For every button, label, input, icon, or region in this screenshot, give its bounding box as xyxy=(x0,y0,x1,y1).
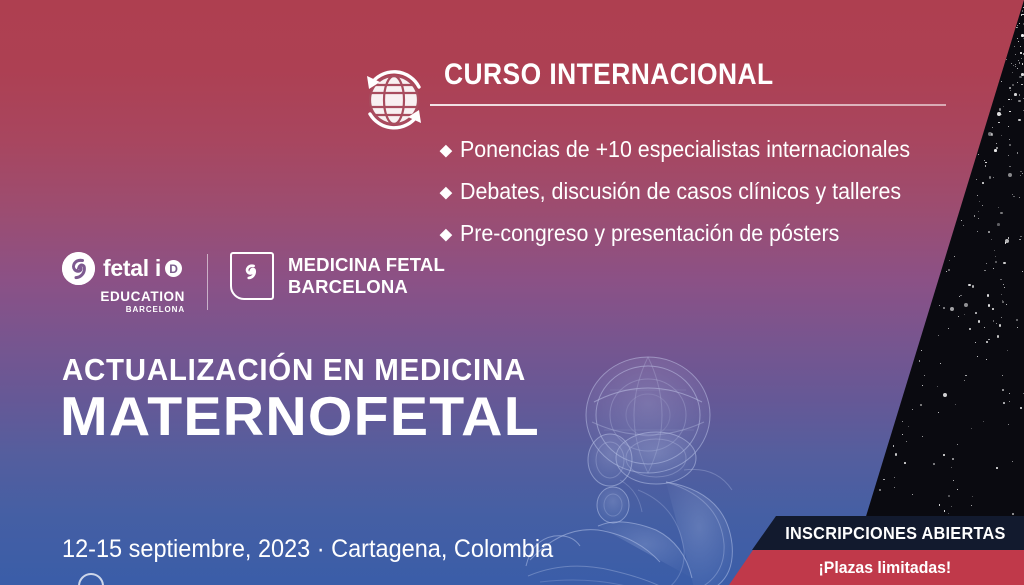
list-item: Ponencias de +10 especialistas internaci… xyxy=(440,128,944,170)
diamond-bullet-icon xyxy=(440,187,453,200)
shield-fetus-icon xyxy=(230,252,274,300)
star-dot xyxy=(1019,76,1022,79)
star-dot xyxy=(979,201,981,203)
star-dot xyxy=(985,162,987,164)
star-dot xyxy=(976,179,977,180)
star-dot xyxy=(993,177,994,178)
diamond-bullet-icon xyxy=(440,145,453,158)
star-dot xyxy=(995,256,996,257)
star-dot xyxy=(995,261,998,264)
star-dot xyxy=(894,487,895,488)
star-dot xyxy=(997,223,1000,226)
star-dot xyxy=(879,489,882,492)
star-dot xyxy=(922,436,923,437)
mfb-wordmark: MEDICINA FETAL BARCELONA xyxy=(288,254,445,298)
logo-group: fetal i D EDUCATION BARCELONA MEDICINA F… xyxy=(62,252,445,314)
star-dot xyxy=(983,421,984,422)
star-dot xyxy=(1021,34,1024,37)
star-dot xyxy=(1019,197,1021,199)
list-item: Pre-congreso y presentación de pósters xyxy=(440,212,944,254)
star-dot xyxy=(1011,99,1012,100)
star-dot xyxy=(1002,375,1003,376)
fetal-id-subtitle-education: EDUCATION xyxy=(62,289,187,304)
promo-banner: CURSO INTERNACIONAL Ponencias de +10 esp… xyxy=(0,0,1024,585)
star-dot xyxy=(1017,27,1018,28)
star-dot xyxy=(988,339,990,341)
star-dot xyxy=(988,231,990,233)
star-dot xyxy=(894,477,895,478)
star-dot xyxy=(957,444,958,445)
star-dot xyxy=(1015,66,1016,67)
star-dot xyxy=(952,458,954,460)
star-dot xyxy=(963,225,964,226)
star-dot xyxy=(1003,402,1005,404)
star-dot xyxy=(986,359,988,361)
course-kicker: CURSO INTERNACIONAL xyxy=(444,58,774,92)
bullet-text: Ponencias de +10 especialistas internaci… xyxy=(460,128,910,170)
star-dot xyxy=(992,127,993,128)
star-dot xyxy=(943,454,946,457)
star-dot xyxy=(982,205,983,206)
page-title-line-1: ACTUALIZACIÓN EN MEDICINA xyxy=(62,352,526,388)
star-dot xyxy=(997,335,1000,338)
star-dot xyxy=(1012,84,1014,86)
star-dot xyxy=(1003,106,1004,107)
star-dot xyxy=(977,356,979,358)
mfb-line-1: MEDICINA FETAL xyxy=(288,254,445,276)
star-dot xyxy=(994,149,997,152)
mfb-line-2: BARCELONA xyxy=(288,276,445,298)
star-dot xyxy=(978,218,979,219)
star-dot xyxy=(1019,23,1020,24)
star-dot xyxy=(964,303,968,307)
star-dot xyxy=(992,308,994,310)
fetal-id-lockup: fetal i D xyxy=(62,252,187,285)
star-dot xyxy=(948,269,951,272)
star-dot xyxy=(920,404,923,407)
location-pin-icon xyxy=(78,573,104,585)
star-dot xyxy=(1009,401,1010,402)
star-dot xyxy=(912,494,914,496)
star-dot xyxy=(1021,58,1022,59)
star-dot xyxy=(1012,461,1013,462)
star-dot xyxy=(944,510,946,512)
star-dot xyxy=(1008,173,1012,177)
star-dot xyxy=(953,480,954,481)
star-dot xyxy=(893,445,895,447)
star-dot xyxy=(906,441,907,442)
star-dot xyxy=(1001,294,1002,295)
star-dot xyxy=(1006,59,1007,60)
fetal-id-spiral-icon xyxy=(62,252,95,285)
star-dot xyxy=(989,176,992,179)
star-dot xyxy=(996,467,998,469)
registration-open-label: INSCRIPCIONES ABIERTAS xyxy=(762,516,1015,550)
star-dot xyxy=(965,375,967,377)
bullet-text: Pre-congreso y presentación de pósters xyxy=(460,212,839,254)
star-dot xyxy=(946,271,947,272)
star-dot xyxy=(1016,319,1018,321)
star-dot xyxy=(1020,46,1021,47)
logo-divider xyxy=(207,254,208,310)
star-dot xyxy=(971,505,972,506)
star-dot xyxy=(1004,287,1005,288)
star-dot xyxy=(948,328,949,329)
star-dot xyxy=(1009,166,1011,168)
star-dot xyxy=(1017,82,1018,83)
star-dot xyxy=(1000,212,1003,215)
star-dot xyxy=(902,421,903,422)
star-dot xyxy=(999,324,1002,327)
star-dot xyxy=(912,409,913,410)
star-dot xyxy=(978,320,981,323)
star-dot xyxy=(943,307,945,309)
star-dot xyxy=(939,305,940,306)
star-dot xyxy=(978,154,979,155)
star-dot xyxy=(982,182,984,184)
star-dot xyxy=(1018,60,1019,61)
fetal-id-d-badge: D xyxy=(165,260,182,277)
list-item: Debates, discusión de casos clínicos y t… xyxy=(440,170,944,212)
star-dot xyxy=(985,165,987,167)
star-dot xyxy=(974,215,976,217)
star-dot xyxy=(1011,63,1012,64)
star-dot xyxy=(961,220,962,221)
star-dot xyxy=(950,307,954,311)
star-dot xyxy=(996,143,997,144)
star-dot xyxy=(999,108,1002,111)
fetal-id-wordmark: fetal i D xyxy=(103,257,182,280)
limited-seats-label: ¡Plazas limitadas! xyxy=(739,550,1013,585)
star-dot xyxy=(895,453,898,456)
star-dot xyxy=(951,506,953,508)
star-dot xyxy=(988,304,991,307)
star-dot xyxy=(1008,99,1010,101)
star-dot xyxy=(904,462,906,464)
star-dot xyxy=(1020,175,1021,176)
star-dot xyxy=(1017,68,1018,69)
header-divider-rule xyxy=(430,104,946,106)
star-dot xyxy=(998,122,1000,124)
star-dot xyxy=(1009,139,1010,140)
star-dot xyxy=(902,434,903,435)
star-dot xyxy=(1017,38,1018,39)
star-dot xyxy=(1001,135,1002,136)
page-title-line-2: MATERNOFETAL xyxy=(60,388,540,446)
star-dot xyxy=(933,463,935,465)
star-dot xyxy=(1009,111,1011,113)
star-dot xyxy=(1009,393,1010,394)
star-dot xyxy=(1021,84,1023,86)
star-dot xyxy=(954,256,955,257)
diamond-bullet-icon xyxy=(440,229,453,242)
star-dot xyxy=(1001,317,1002,318)
fetal-id-word-text: fetal i xyxy=(103,257,161,280)
star-dot xyxy=(1017,327,1018,328)
star-dot xyxy=(940,363,941,364)
star-dot xyxy=(977,195,978,196)
star-dot xyxy=(1022,63,1024,65)
star-dot xyxy=(1009,87,1011,89)
star-dot xyxy=(908,426,909,427)
star-dot xyxy=(1017,25,1018,26)
star-dot xyxy=(938,335,939,336)
feature-bullet-list: Ponencias de +10 especialistas internaci… xyxy=(440,128,944,254)
star-dot xyxy=(978,211,979,212)
star-dot xyxy=(1022,173,1023,174)
star-dot xyxy=(1020,407,1023,410)
star-dot xyxy=(975,312,977,314)
star-dot xyxy=(955,404,956,405)
star-dot xyxy=(986,341,988,343)
star-dot xyxy=(1002,301,1005,304)
star-dot xyxy=(997,112,1001,116)
star-dot xyxy=(1018,100,1021,103)
star-dot xyxy=(984,270,986,272)
star-dot xyxy=(1022,271,1023,272)
star-dot xyxy=(957,489,958,490)
logo-fetal-id: fetal i D EDUCATION BARCELONA xyxy=(62,252,187,314)
star-dot xyxy=(972,285,975,288)
star-dot xyxy=(938,412,940,414)
star-dot xyxy=(998,207,999,208)
star-dot xyxy=(937,386,938,387)
star-dot xyxy=(994,250,995,251)
star-dot xyxy=(1003,262,1006,265)
star-dot xyxy=(922,385,923,386)
star-dot xyxy=(1013,65,1014,66)
star-dot xyxy=(1019,62,1021,64)
star-dot xyxy=(968,284,971,287)
star-dot xyxy=(919,360,921,362)
star-dot xyxy=(984,327,985,328)
star-dot xyxy=(1008,155,1009,156)
star-dot xyxy=(972,496,973,497)
star-dot xyxy=(924,375,925,376)
star-dot xyxy=(951,467,952,468)
star-dot xyxy=(1008,237,1010,239)
star-dot xyxy=(883,479,885,481)
star-dot xyxy=(1013,196,1015,198)
star-dot xyxy=(1019,94,1021,96)
star-dot xyxy=(1007,350,1009,352)
star-dot xyxy=(1009,144,1011,146)
star-dot xyxy=(943,393,947,397)
star-dot xyxy=(921,350,922,351)
star-dot xyxy=(969,328,972,331)
star-dot xyxy=(1020,52,1022,54)
bullet-text: Debates, discusión de casos clínicos y t… xyxy=(460,170,901,212)
star-dot xyxy=(1006,304,1007,305)
star-dot xyxy=(986,263,988,265)
star-dot xyxy=(1015,54,1016,55)
star-dot xyxy=(1018,41,1019,42)
star-dot xyxy=(1012,513,1014,515)
star-dot xyxy=(1018,119,1021,122)
star-dot xyxy=(1001,81,1002,82)
star-dot xyxy=(1021,73,1024,76)
star-dot xyxy=(1020,236,1022,238)
star-dot xyxy=(1010,90,1011,91)
star-dot xyxy=(1000,279,1002,281)
fetal-id-subtitle-barcelona: BARCELONA xyxy=(62,305,187,314)
star-dot xyxy=(948,513,949,514)
star-dot xyxy=(971,428,972,429)
logo-medicina-fetal-barcelona: MEDICINA FETAL BARCELONA xyxy=(230,252,445,300)
globe-refresh-icon xyxy=(357,62,431,136)
limited-seats-ribbon: ¡Plazas limitadas! xyxy=(729,550,1024,585)
event-dateline: 12-15 septiembre, 2023 · Cartagena, Colo… xyxy=(62,535,553,564)
star-dot xyxy=(1008,424,1009,425)
star-dot xyxy=(977,231,978,232)
star-dot xyxy=(993,268,994,269)
star-dot xyxy=(939,504,941,506)
star-dot xyxy=(948,495,950,497)
star-dot xyxy=(1020,171,1022,173)
star-dot xyxy=(975,342,976,343)
star-dot xyxy=(1002,389,1004,391)
registration-open-ribbon: INSCRIPCIONES ABIERTAS xyxy=(752,516,1024,550)
star-dot xyxy=(958,316,959,317)
star-dot xyxy=(1012,72,1013,73)
star-dot xyxy=(1008,126,1009,127)
star-dot xyxy=(991,239,992,240)
star-dot xyxy=(1014,46,1015,47)
star-dot xyxy=(1017,152,1019,154)
star-dot xyxy=(996,323,997,324)
star-dot xyxy=(1014,93,1017,96)
star-dot xyxy=(1019,239,1021,241)
star-dot xyxy=(964,314,965,315)
star-dot xyxy=(984,160,985,161)
star-dot xyxy=(1003,284,1005,286)
star-dot xyxy=(993,320,995,322)
star-dot xyxy=(987,294,990,297)
star-dot xyxy=(1022,10,1024,12)
star-dot xyxy=(964,380,965,381)
star-dot xyxy=(949,260,950,261)
star-dot xyxy=(960,295,962,297)
